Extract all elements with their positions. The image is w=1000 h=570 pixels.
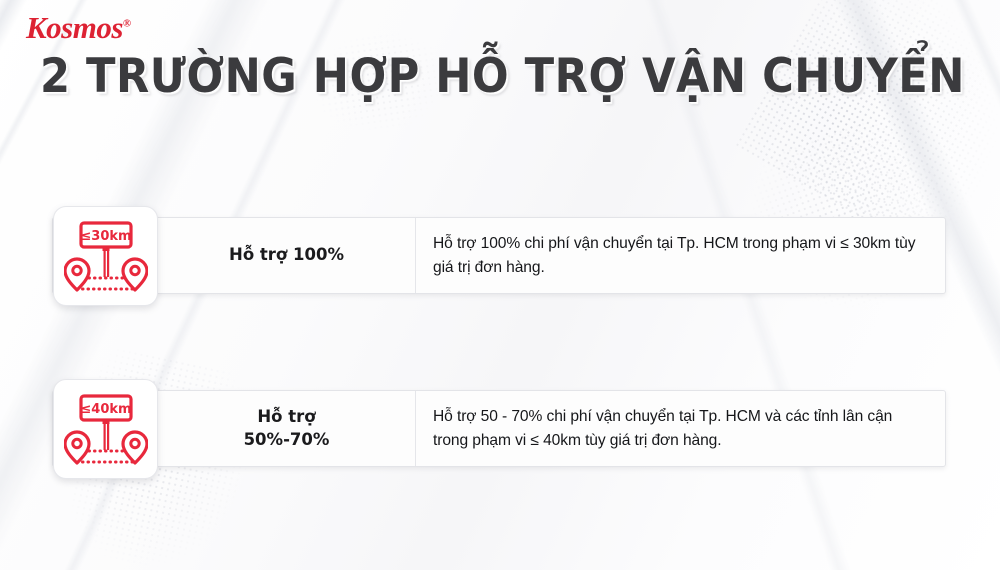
svg-text:≤30km: ≤30km	[80, 229, 131, 244]
support-level-label-cell-1: Hỗ trợ 100%	[158, 218, 416, 293]
support-level-label: Hỗ trợ 50%-70%	[244, 406, 330, 451]
support-description-cell-2: Hỗ trợ 50 - 70% chi phí vận chuyển tại T…	[416, 391, 945, 466]
brand-logo: Kosmos®	[26, 12, 131, 43]
brand-logo-text: Kosmos	[26, 10, 123, 45]
support-description: Hỗ trợ 50 - 70% chi phí vận chuyển tại T…	[433, 405, 929, 451]
shipping-support-card-1: ≤30km Hỗ trợ 100% Hỗ trợ 100% chi phí vậ…	[52, 217, 946, 294]
shipping-support-card-2: ≤40km Hỗ trợ 50%-70% Hỗ trợ 50 - 70% chi…	[52, 390, 946, 467]
svg-text:≤40km: ≤40km	[80, 402, 131, 417]
page-title: 2 TRƯỜNG HỢP HỖ TRỢ VẬN CHUYỂN	[40, 52, 960, 101]
registered-mark-icon: ®	[123, 18, 131, 30]
support-description-cell-1: Hỗ trợ 100% chi phí vận chuyển tại Tp. H…	[416, 218, 945, 293]
distance-sign-40km-icon: ≤40km	[53, 379, 158, 479]
distance-sign-30km-icon: ≤30km	[53, 206, 158, 306]
promo-banner: Kosmos® 2 TRƯỜNG HỢP HỖ TRỢ VẬN CHUYỂN ≤…	[0, 0, 1000, 570]
support-description: Hỗ trợ 100% chi phí vận chuyển tại Tp. H…	[433, 232, 929, 278]
support-level-label: Hỗ trợ 100%	[229, 244, 344, 266]
support-level-label-cell-2: Hỗ trợ 50%-70%	[158, 391, 416, 466]
